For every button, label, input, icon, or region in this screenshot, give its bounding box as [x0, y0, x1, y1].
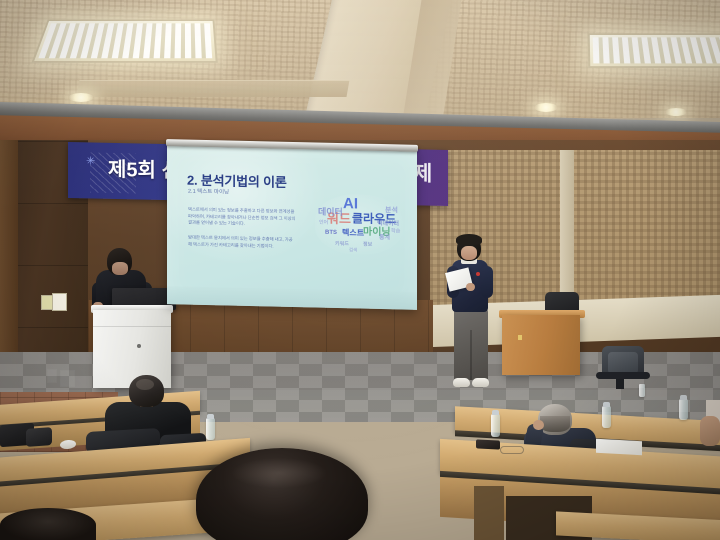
ceiling-vent	[77, 80, 350, 97]
wordcloud-term-learning: 학습	[391, 229, 400, 234]
presenter-arm-right	[481, 266, 493, 298]
slide-paragraph-1: 텍스트에서 의미 있는 정보를 추출하고 다른 정보와 연계성을 파악하며, 카…	[188, 207, 296, 229]
wordcloud-term-data: 데이터	[318, 208, 343, 218]
water-bottle-1	[206, 418, 215, 440]
wordcloud-term-statistics: 통계	[379, 235, 390, 241]
foreground-hair-highlight	[232, 458, 326, 488]
podium-knob	[137, 344, 141, 348]
projection-screen: 2. 분석기법의 이론 2.1 텍스트 마이닝 텍스트에서 의미 있는 정보를 …	[167, 144, 417, 310]
wordcloud-term-analysis: 분석	[385, 207, 398, 214]
wordcloud-term-keyword: 키워드	[335, 242, 349, 247]
word-cloud-graphic: AI 워드 클라우드 텍스트 마이닝 BTS 데이터 분석 빅데이터 키워드 정…	[313, 189, 405, 259]
attendee-back-left-hair-highlight	[136, 379, 154, 390]
wordcloud-term-language: 언어	[319, 221, 328, 226]
operator-face	[112, 262, 128, 275]
fluorescent-light-panel-left	[31, 20, 217, 63]
attendee-right-hand	[533, 420, 544, 430]
presenter-hair	[456, 234, 482, 245]
office-chair-arm	[596, 372, 650, 379]
downlight-icon-left	[68, 93, 94, 102]
downlight-icon-right	[665, 108, 687, 116]
lecture-hall-photo: ✳ 제5회 신 일시 | 20 제 2. 분석기법의 이론 2.1 텍스트 마이…	[0, 0, 720, 540]
podium-seam	[93, 326, 171, 327]
presenter-face	[461, 246, 477, 260]
slide-subtitle: 2.1 텍스트 마이닝	[188, 187, 229, 196]
water-bottle-3	[602, 406, 611, 428]
water-bottle-4	[679, 399, 688, 420]
wordcloud-term-bts: BTS	[325, 230, 337, 236]
office-chair-base	[616, 379, 624, 389]
water-bottle-cap-2	[492, 410, 499, 415]
water-bottle-stage	[639, 384, 645, 397]
slide-paragraph-2: 방대한 텍스트 뭉치에서 의미 있는 정보를 추출해 내고, 가공해 텍스트가 …	[188, 235, 296, 251]
downlight-icon-center	[534, 103, 558, 112]
wall-notice-2	[52, 293, 67, 311]
banner-star-icon: ✳	[86, 154, 95, 167]
water-bottle-cap-1	[207, 414, 214, 419]
podium-lectern	[93, 310, 171, 388]
water-bottle-cap-3	[603, 402, 610, 407]
presenter-shoe-right	[472, 378, 489, 387]
wordcloud-term-ai: AI	[343, 196, 358, 211]
wordcloud-term-text: 텍스트	[342, 229, 364, 238]
cabinet-lock-icon	[518, 335, 522, 340]
wordcloud-term-bigdata: 빅데이터	[377, 221, 399, 228]
office-chair-cushion	[608, 352, 638, 374]
desk-support-leg	[474, 486, 504, 540]
presenter-shoe-left	[453, 378, 470, 387]
desk-bag-2	[26, 427, 52, 447]
presenter-trouser-seam	[470, 330, 472, 380]
attendee-far-right-arm	[700, 416, 720, 446]
water-bottle-2	[491, 414, 500, 437]
presenter-logo-icon	[476, 272, 480, 276]
attendee-right-hair	[540, 416, 570, 432]
side-cabinet	[502, 315, 580, 375]
fluorescent-light-panel-right	[588, 33, 720, 68]
presenter-hand	[466, 283, 475, 291]
wordcloud-term-info: 정보	[363, 243, 372, 248]
wordcloud-term-search: 검색	[349, 248, 357, 253]
eyeglasses-on-desk	[500, 446, 524, 454]
foreground-attendee-left-head	[0, 508, 96, 540]
smartphone-on-desk	[476, 439, 500, 449]
paper-on-desk	[596, 439, 642, 455]
water-bottle-cap-4	[680, 395, 687, 400]
